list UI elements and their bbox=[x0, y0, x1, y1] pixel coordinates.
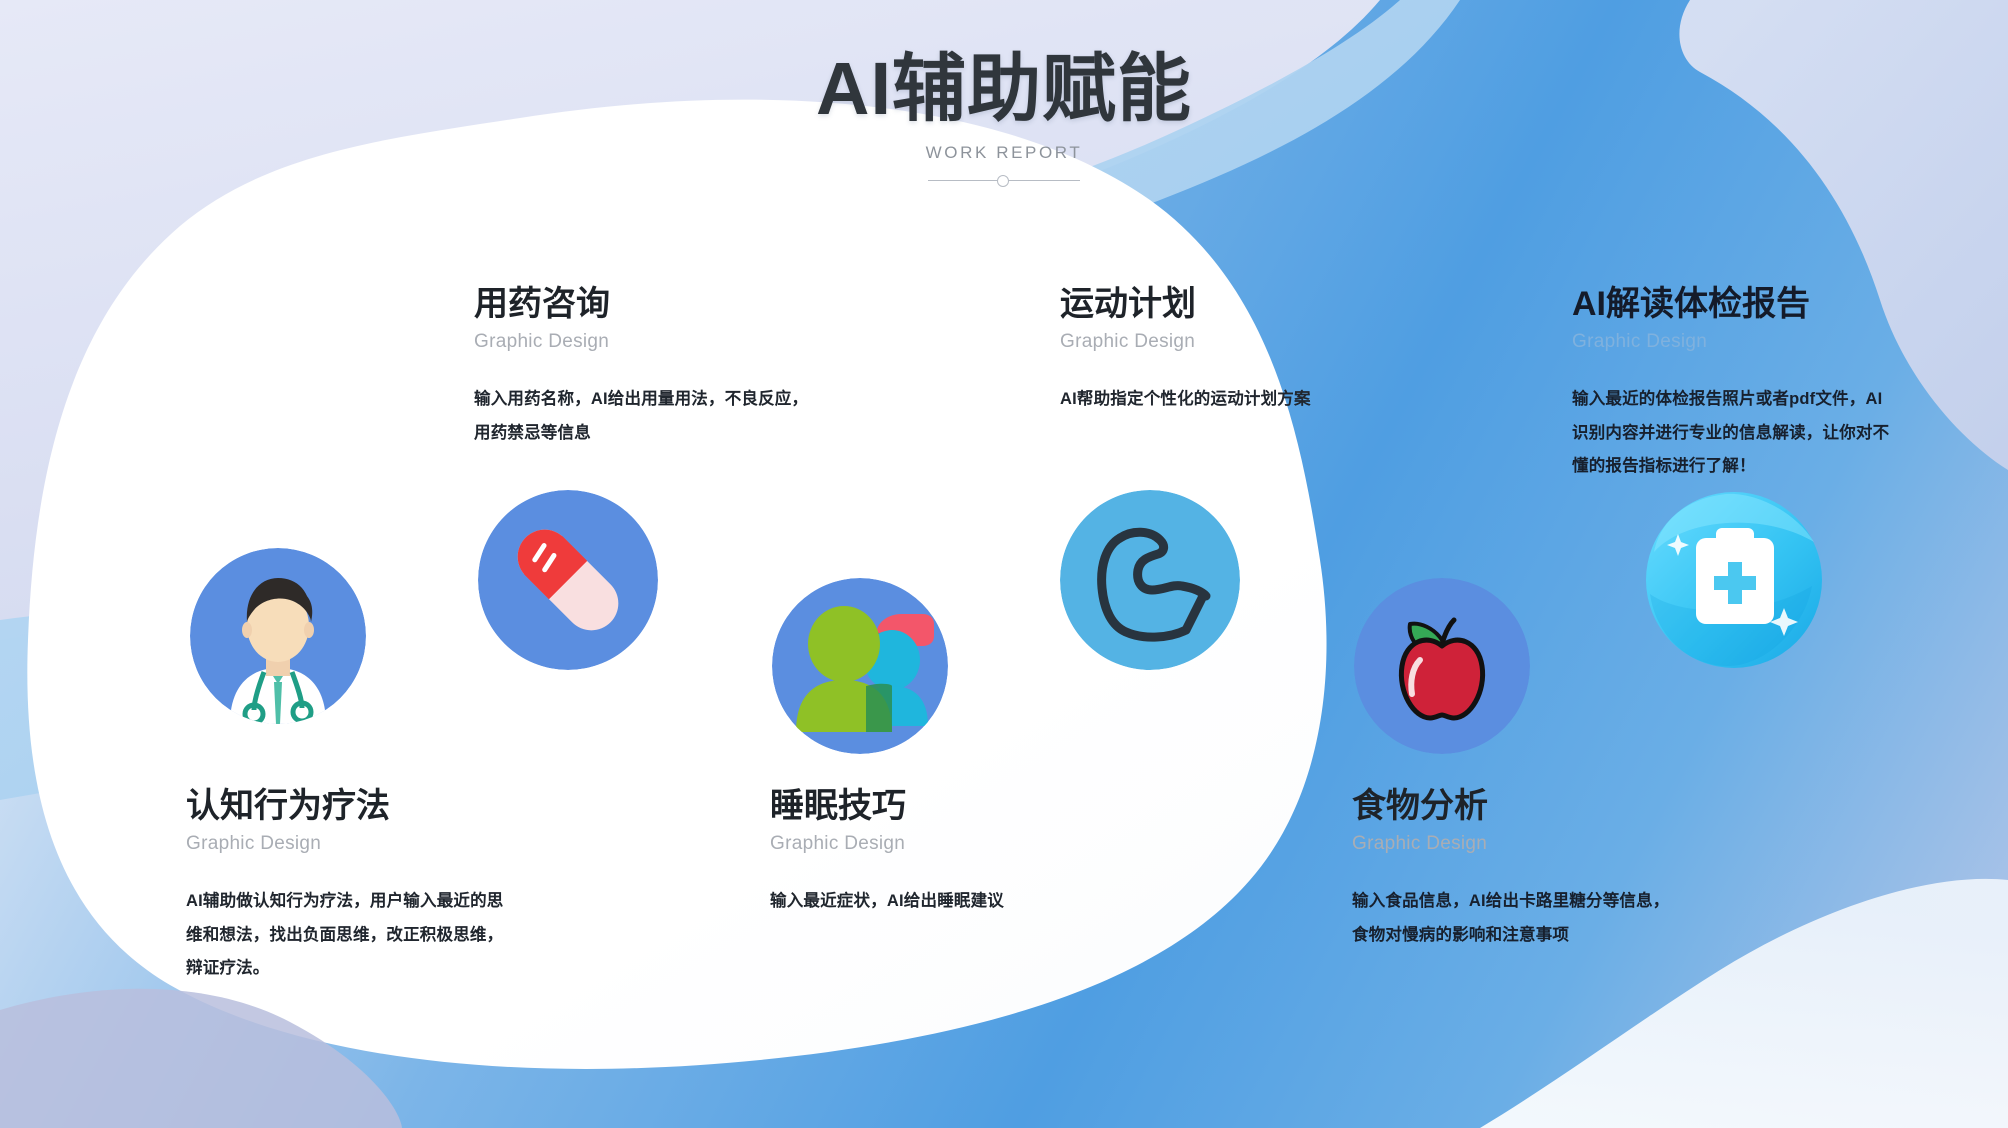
feature-description: 输入食品信息，AI给出卡路里糖分等信息， 食物对慢病的影响和注意事项 bbox=[1352, 885, 1752, 953]
page-subtitle: WORK REPORT bbox=[0, 143, 2008, 163]
page-title: AI辅助赋能 bbox=[0, 48, 2008, 131]
pill-icon[interactable] bbox=[478, 490, 658, 670]
divider-knob-icon bbox=[997, 175, 1009, 187]
feature-title: 用药咨询 bbox=[474, 284, 874, 325]
title-divider bbox=[928, 174, 1080, 188]
feature-sleep-techniques[interactable]: 睡眠技巧 Graphic Design 输入最近症状，AI给出睡眠建议 bbox=[770, 786, 1150, 919]
feature-title: AI解读体检报告 bbox=[1572, 284, 1972, 325]
feature-description: AI帮助指定个性化的运动计划方案 bbox=[1060, 383, 1440, 417]
feature-description: AI辅助做认知行为疗法，用户输入最近的思 维和想法，找出负面思维，改正积极思维，… bbox=[186, 885, 586, 986]
title-block: AI辅助赋能 WORK REPORT bbox=[0, 48, 2008, 188]
flexed-biceps-icon[interactable] bbox=[1060, 490, 1240, 670]
feature-ai-medical-report[interactable]: AI解读体检报告 Graphic Design 输入最近的体检报告照片或者pdf… bbox=[1572, 284, 1972, 484]
apple-icon[interactable] bbox=[1354, 578, 1530, 754]
doctor-avatar-icon[interactable] bbox=[190, 548, 366, 724]
feature-subtitle: Graphic Design bbox=[770, 833, 1150, 855]
feature-subtitle: Graphic Design bbox=[186, 833, 586, 855]
feature-title: 食物分析 bbox=[1352, 786, 1752, 827]
feature-subtitle: Graphic Design bbox=[1572, 331, 1972, 353]
people-chat-icon[interactable] bbox=[772, 578, 948, 754]
feature-subtitle: Graphic Design bbox=[1352, 833, 1752, 855]
slide-canvas: AI辅助赋能 WORK REPORT 用药咨询 Graphic Design 输… bbox=[0, 0, 2008, 1128]
feature-title: 认知行为疗法 bbox=[186, 786, 586, 827]
feature-subtitle: Graphic Design bbox=[1060, 331, 1440, 353]
medical-clipboard-icon[interactable] bbox=[1644, 490, 1824, 670]
feature-description: 输入用药名称，AI给出用量用法，不良反应， 用药禁忌等信息 bbox=[474, 383, 874, 451]
feature-medication-consult[interactable]: 用药咨询 Graphic Design 输入用药名称，AI给出用量用法，不良反应… bbox=[474, 284, 874, 450]
feature-cognitive-behavioral-therapy[interactable]: 认知行为疗法 Graphic Design AI辅助做认知行为疗法，用户输入最近… bbox=[186, 786, 586, 986]
feature-title: 睡眠技巧 bbox=[770, 786, 1150, 827]
blob-bottom-left-lavender bbox=[0, 989, 402, 1128]
feature-description: 输入最近的体检报告照片或者pdf文件，AI 识别内容并进行专业的信息解读，让你对… bbox=[1572, 383, 1972, 484]
feature-description: 输入最近症状，AI给出睡眠建议 bbox=[770, 885, 1150, 919]
feature-food-analysis[interactable]: 食物分析 Graphic Design 输入食品信息，AI给出卡路里糖分等信息，… bbox=[1352, 786, 1752, 952]
feature-exercise-plan[interactable]: 运动计划 Graphic Design AI帮助指定个性化的运动计划方案 bbox=[1060, 284, 1440, 417]
feature-title: 运动计划 bbox=[1060, 284, 1440, 325]
feature-subtitle: Graphic Design bbox=[474, 331, 874, 353]
